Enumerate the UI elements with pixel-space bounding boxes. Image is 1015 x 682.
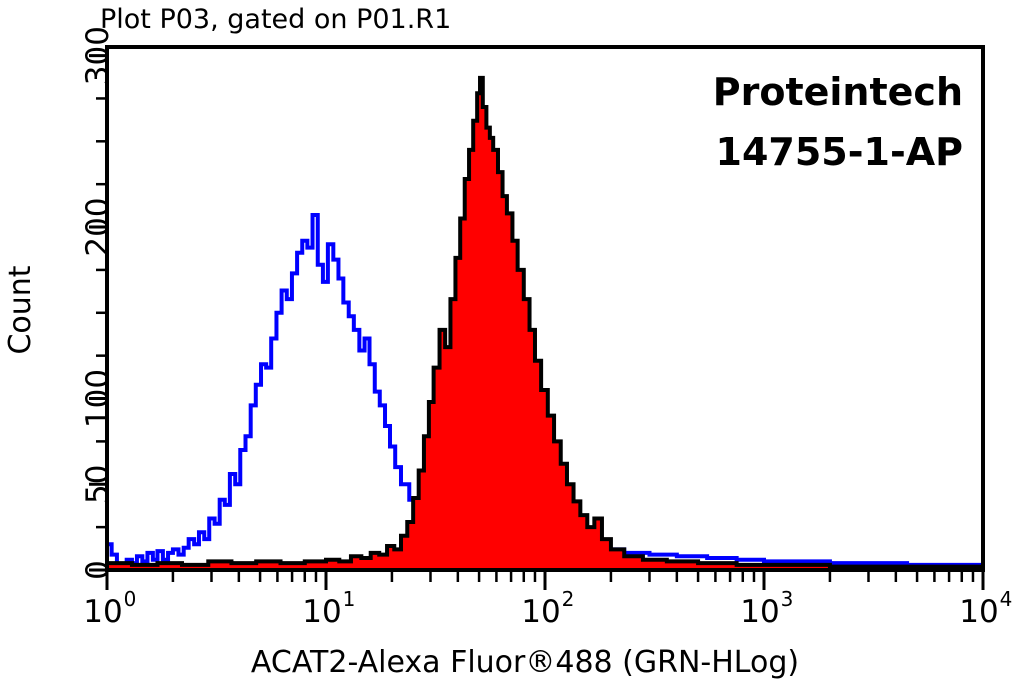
x-tick-label: 103	[740, 587, 793, 630]
x-tick-label-mantissa: 10	[740, 594, 779, 630]
y-tick-label: 100	[80, 369, 116, 428]
x-tick-label: 100	[83, 587, 136, 630]
x-tick-label-exponent: 1	[343, 587, 356, 611]
x-tick-label-exponent: 4	[1000, 587, 1013, 611]
brand-company-label: Proteintech	[713, 70, 963, 114]
histogram-plot: 100101102103104050100200300 Plot P03, ga…	[0, 0, 1015, 682]
x-axis-title: ACAT2-Alexa Fluor®488 (GRN-HLog)	[251, 645, 799, 680]
x-tick-label-mantissa: 10	[83, 594, 122, 630]
flow-cytometry-figure: 100101102103104050100200300 Plot P03, ga…	[0, 0, 1015, 682]
y-tick-label: 200	[80, 197, 116, 256]
y-axis-title: Count	[3, 265, 38, 354]
x-tick-label-exponent: 3	[781, 587, 794, 611]
x-tick-label: 102	[521, 587, 574, 630]
x-tick-label-exponent: 0	[124, 587, 137, 611]
x-tick-label: 101	[302, 587, 355, 630]
plot-title: Plot P03, gated on P01.R1	[100, 4, 451, 35]
x-tick-label-mantissa: 10	[959, 594, 998, 630]
x-tick-label-mantissa: 10	[521, 594, 560, 630]
x-tick-label: 104	[959, 587, 1012, 630]
brand-catalog-label: 14755-1-AP	[716, 130, 963, 174]
x-tick-label-mantissa: 10	[302, 594, 341, 630]
y-tick-label: 50	[80, 465, 116, 504]
y-tick-label: 0	[80, 560, 116, 580]
x-tick-label-exponent: 2	[562, 587, 575, 611]
